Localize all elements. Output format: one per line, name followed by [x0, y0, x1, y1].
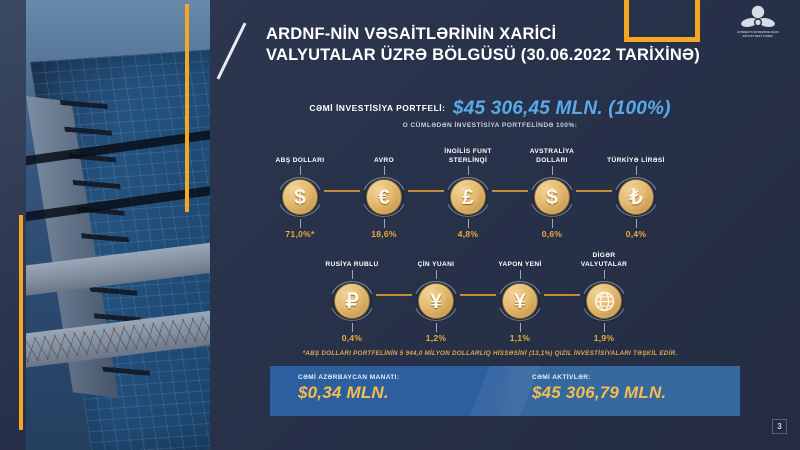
currency-percentage: 1,2% — [426, 333, 447, 343]
australian-dollar-coin-icon: $ — [534, 179, 570, 215]
slide-root: AZƏRBAYCAN RESPUBLİKASI DÖVLƏT NEFT FOND… — [0, 0, 800, 450]
currency-label: YAPON YENİ — [498, 252, 541, 270]
connector-tick-down — [300, 219, 301, 228]
connector-tick-down — [552, 219, 553, 228]
connector-tick-down — [604, 323, 605, 332]
currency-row-2: RUSİYA RUBLU₽0,4%ÇİN YUANI¥1,2%YAPON YEN… — [310, 252, 646, 343]
euro-coin-icon: € — [366, 179, 402, 215]
currency-percentage: 0,4% — [342, 333, 363, 343]
connector-tick-down — [384, 219, 385, 228]
currency-percentage: 1,9% — [594, 333, 615, 343]
currency-percentage: 4,8% — [458, 229, 479, 239]
title-block: ARDNF-NİN VƏSAİTLƏRİNİN XARİCİ VALYUTALA… — [222, 22, 742, 78]
portfolio-subtitle: O CÜMLƏDƏN İNVESTİSİYA PORTFELİNDƏ 100%: — [210, 122, 770, 129]
connector-tick-up — [520, 270, 521, 279]
currency-label: İNGİLİS FUNT STERLİNQİ — [444, 148, 491, 166]
currency-cell: ABŞ DOLLARI$71,0%* — [258, 148, 342, 239]
currency-cell: RUSİYA RUBLU₽0,4% — [310, 252, 394, 343]
connector-tick-up — [352, 270, 353, 279]
globe-coin-icon — [586, 283, 622, 319]
diagonal-slash-icon — [222, 22, 256, 78]
turkish-lira-coin-icon: ₺ — [618, 179, 654, 215]
currency-label: AVRO — [374, 148, 394, 166]
currency-cell: DİGƏR VALYUTALAR1,9% — [562, 252, 646, 343]
currency-label: RUSİYA RUBLU — [325, 252, 378, 270]
connector-tick-up — [552, 166, 553, 175]
page-title: ARDNF-NİN VƏSAİTLƏRİNİN XARİCİ VALYUTALA… — [266, 22, 700, 78]
pound-sterling-coin-icon: £ — [450, 179, 486, 215]
accent-bar-top — [185, 4, 189, 212]
left-photo-panel — [0, 0, 210, 450]
currency-percentage: 71,0%* — [285, 229, 314, 239]
currency-symbol: ₽ — [345, 291, 358, 312]
russian-ruble-coin-icon: ₽ — [334, 283, 370, 319]
currency-cell: YAPON YENİ¥1,1% — [478, 252, 562, 343]
footnote-text: *ABŞ DOLLARI PORTFELİNİN 5 944,0 MİLYON … — [210, 350, 770, 357]
currency-cell: ÇİN YUANI¥1,2% — [394, 252, 478, 343]
coin-holder: £ — [444, 175, 492, 219]
connector-tick-up — [604, 270, 605, 279]
connector-tick-up — [468, 166, 469, 175]
currency-cell: İNGİLİS FUNT STERLİNQİ£4,8% — [426, 148, 510, 239]
connector-tick-up — [300, 166, 301, 175]
currency-symbol: ¥ — [514, 291, 526, 312]
currency-cell: TÜRKİYƏ LİRƏSİ₺0,4% — [594, 148, 678, 239]
currency-percentage: 0,6% — [542, 229, 563, 239]
summary-panel: CƏMİ AZƏRBAYCAN MANATI: $0,34 MLN. CƏMİ … — [270, 366, 740, 416]
connector-tick-down — [436, 323, 437, 332]
currency-label: DİGƏR VALYUTALAR — [581, 252, 628, 270]
currency-symbol: ₺ — [629, 187, 642, 208]
currency-cell: AVSTRALİYA DOLLARI$0,6% — [510, 148, 594, 239]
coin-holder: ¥ — [496, 279, 544, 323]
coin-holder: $ — [528, 175, 576, 219]
currency-cell: AVRO€18,6% — [342, 148, 426, 239]
connector-tick-up — [636, 166, 637, 175]
coin-holder: ¥ — [412, 279, 460, 323]
chinese-yuan-coin-icon: ¥ — [418, 283, 454, 319]
summary-manat-label: CƏMİ AZƏRBAYCAN MANATI: — [298, 374, 399, 381]
japanese-yen-coin-icon: ¥ — [502, 283, 538, 319]
coin-holder: ₺ — [612, 175, 660, 219]
portfolio-total-label: CƏMİ İNVESTİSİYA PORTFELİ: — [309, 103, 445, 113]
page-number-badge: 3 — [772, 419, 787, 434]
coin-holder: ₽ — [328, 279, 376, 323]
coin-holder: € — [360, 175, 408, 219]
currency-symbol: $ — [294, 187, 306, 208]
accent-bar-bottom — [19, 215, 23, 430]
us-dollar-coin-icon: $ — [282, 179, 318, 215]
currency-label: TÜRKİYƏ LİRƏSİ — [607, 148, 665, 166]
content-column: ARDNF-NİN VƏSAİTLƏRİNİN XARİCİ VALYUTALA… — [210, 0, 800, 450]
connector-tick-down — [468, 219, 469, 228]
connector-tick-up — [436, 270, 437, 279]
connector-tick-down — [352, 323, 353, 332]
summary-assets: CƏMİ AKTİVLƏR: $45 306,79 MLN. — [532, 374, 666, 403]
summary-manat-value: $0,34 MLN. — [298, 383, 399, 403]
currency-percentage: 0,4% — [626, 229, 647, 239]
currency-label: ÇİN YUANI — [418, 252, 455, 270]
currency-label: AVSTRALİYA DOLLARI — [530, 148, 575, 166]
currency-percentage: 1,1% — [510, 333, 531, 343]
coin-holder — [580, 279, 628, 323]
currency-symbol: € — [378, 187, 390, 208]
currency-symbol: $ — [546, 187, 558, 208]
connector-tick-down — [636, 219, 637, 228]
portfolio-total-value: $45 306,45 MLN. (100%) — [453, 98, 671, 119]
summary-manat: CƏMİ AZƏRBAYCAN MANATI: $0,34 MLN. — [298, 374, 399, 403]
portfolio-total-line: CƏMİ İNVESTİSİYA PORTFELİ: $45 306,45 ML… — [210, 98, 770, 120]
currency-label: ABŞ DOLLARI — [276, 148, 325, 166]
summary-assets-value: $45 306,79 MLN. — [532, 383, 666, 403]
connector-tick-down — [520, 323, 521, 332]
currency-symbol: ¥ — [430, 291, 442, 312]
currency-percentage: 18,6% — [371, 229, 397, 239]
building-photo — [26, 0, 210, 450]
currency-symbol: £ — [462, 187, 474, 208]
summary-assets-label: CƏMİ AKTİVLƏR: — [532, 374, 666, 381]
coin-holder: $ — [276, 175, 324, 219]
currency-row-1: ABŞ DOLLARI$71,0%*AVRO€18,6%İNGİLİS FUNT… — [258, 148, 678, 239]
connector-tick-up — [384, 166, 385, 175]
